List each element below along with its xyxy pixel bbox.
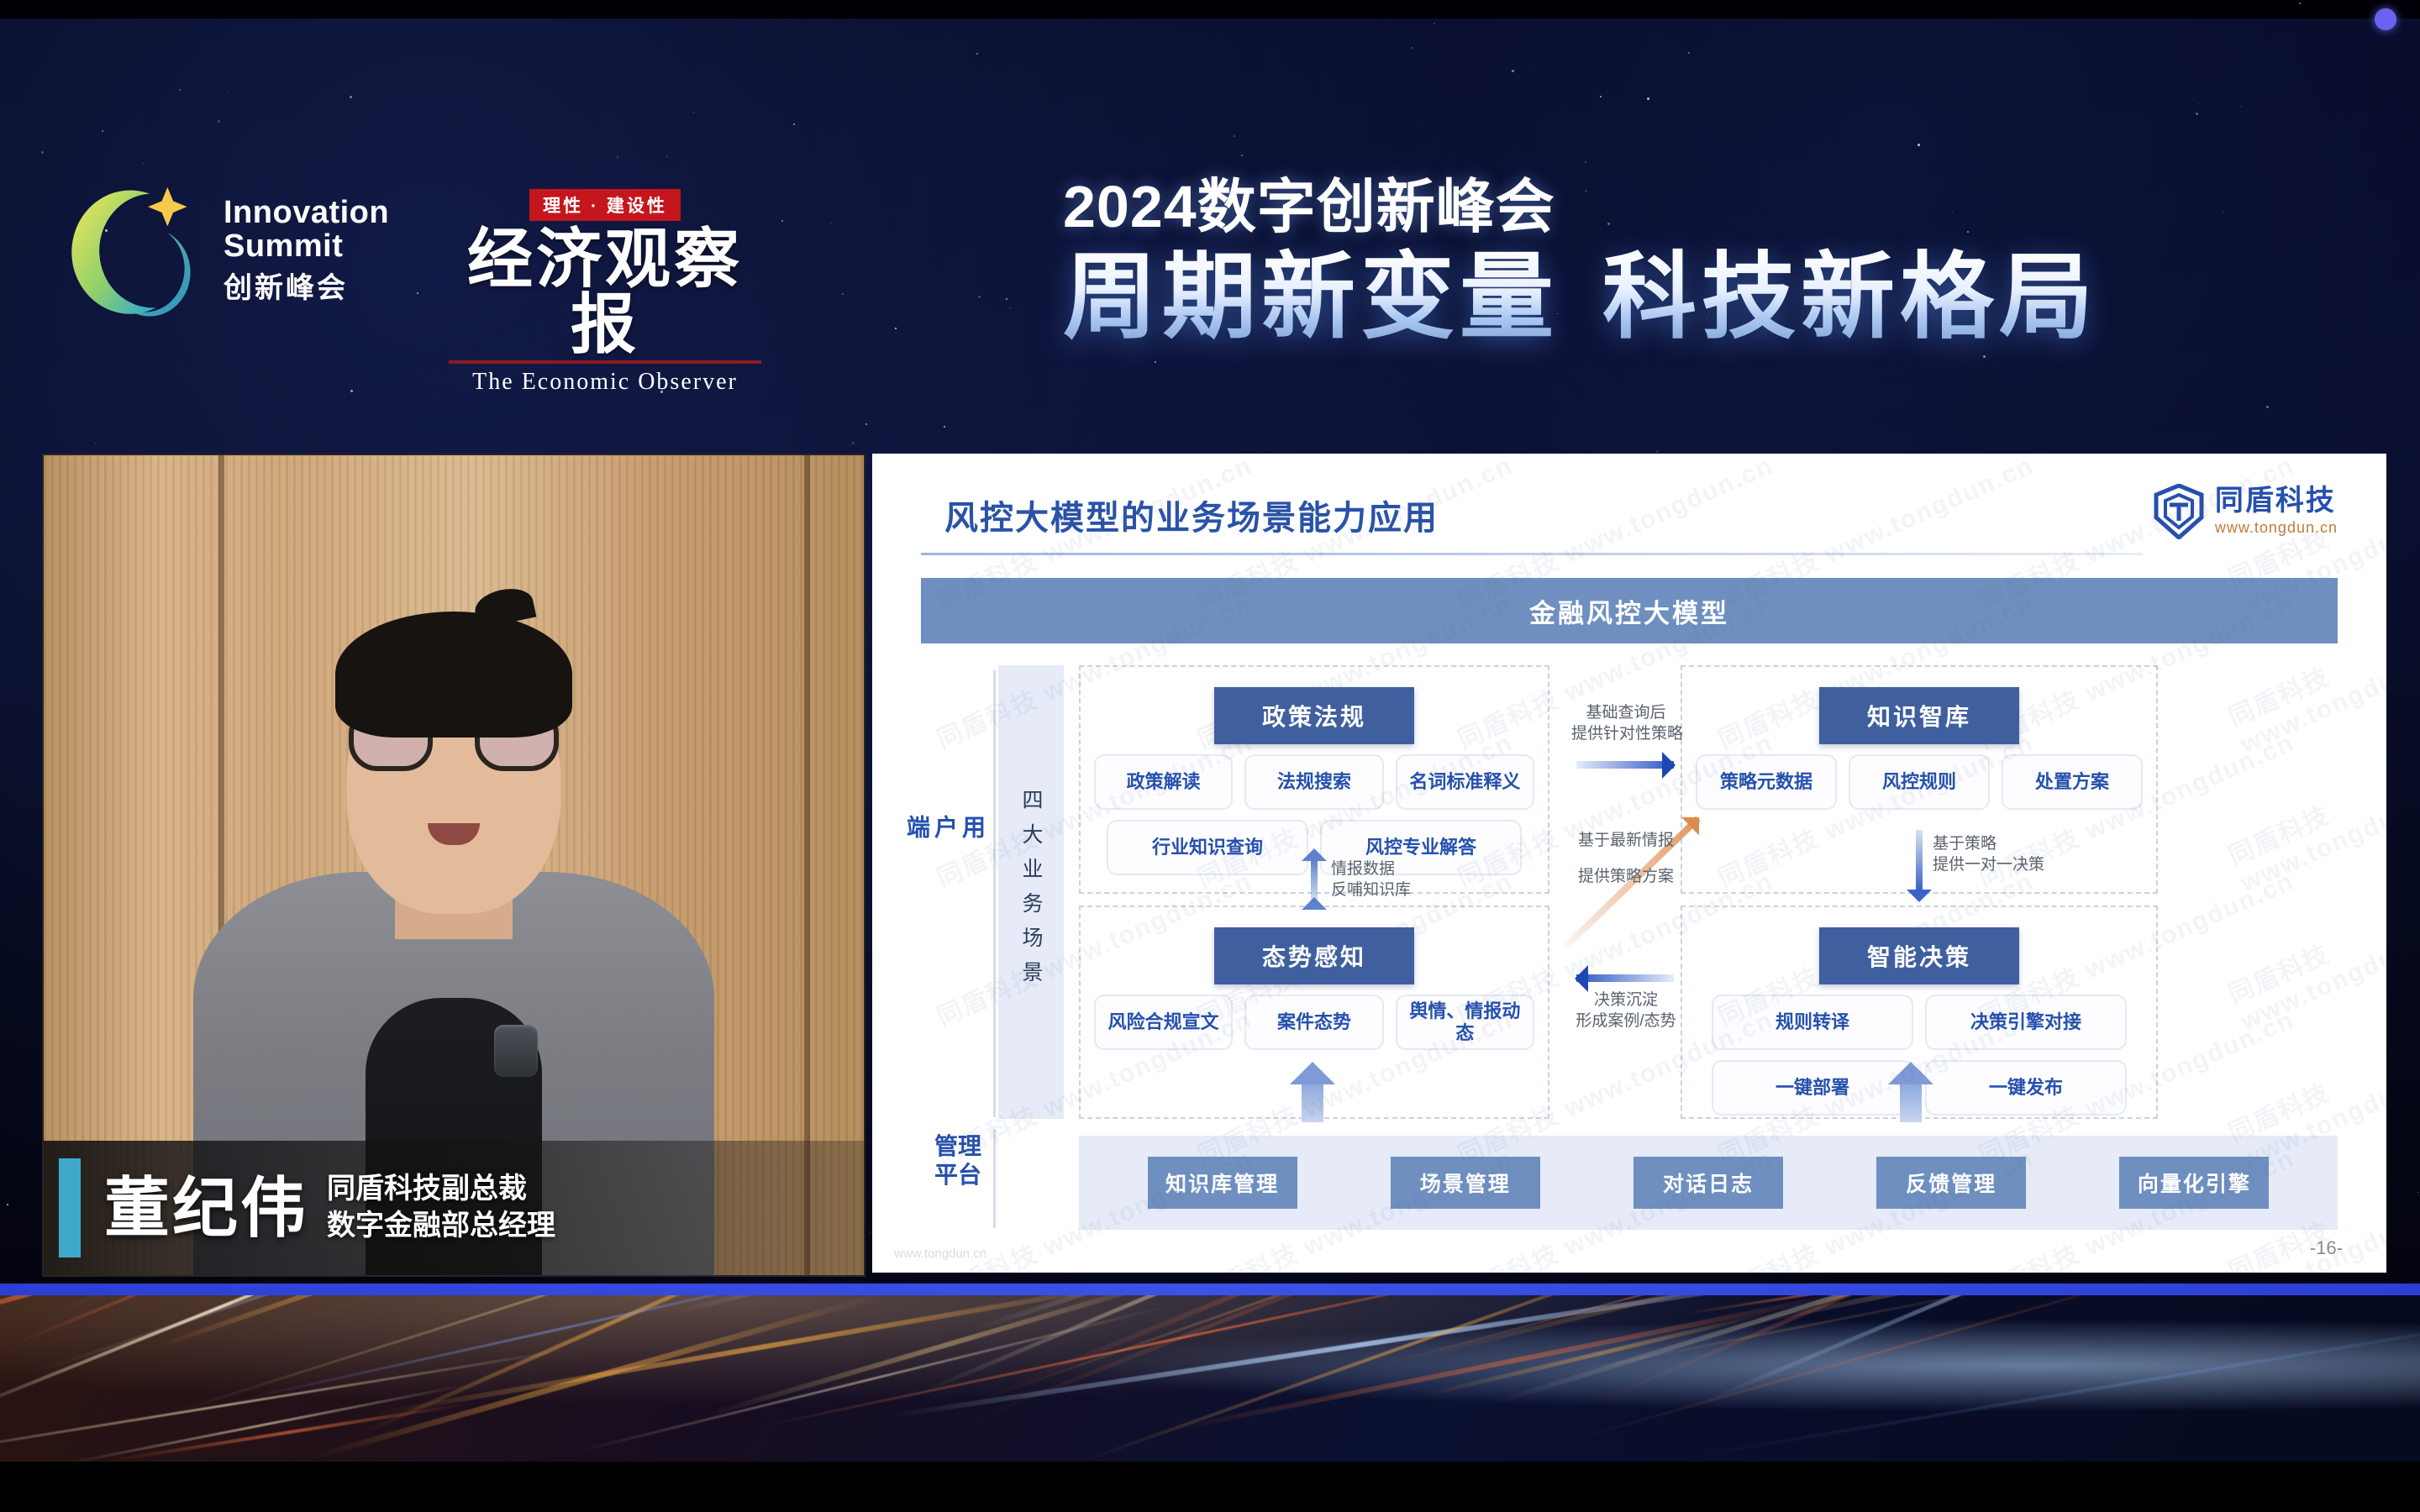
chip-policy-2[interactable]: 法规搜索 [1244, 754, 1383, 810]
summit-title-line2: 周期新变量科技新格局 [1063, 248, 2374, 348]
connector-1-line1: 基于最新情报 [1571, 830, 1681, 851]
tongdun-logo-text: 同盾科技 www.tongdun.cn [2215, 486, 2338, 537]
screen-root: Innovation Summit 创新峰会 理性 · 建设性 经济观察报 Th… [0, 0, 2420, 1512]
bottom-light-streaks [0, 1284, 2420, 1462]
chip-decision-1[interactable]: 规则转译 [1712, 995, 1913, 1050]
speaker-video-panel[interactable]: 董纪伟 同盾科技副总裁 数字金融部总经理 [42, 454, 865, 1277]
chip-situation-3[interactable]: 舆情、情报动态 [1396, 995, 1534, 1050]
cursor-dot [2375, 8, 2396, 30]
chip-knowledge-1[interactable]: 策略元数据 [1696, 754, 1837, 810]
chip-knowledge-3[interactable]: 处置方案 [2002, 754, 2143, 810]
innovation-summit-text: Innovation Summit 创新峰会 [224, 197, 389, 303]
model-banner: 金融风控大模型 [921, 578, 2338, 643]
eo-tagline: 理性 · 建设性 [529, 189, 681, 221]
lane-divider-bottom [993, 1129, 996, 1228]
scenarios-label: 四大业务场景 [1016, 789, 1046, 995]
connector-0-line2: 提供针对性策略 [1571, 723, 1681, 744]
admin-item-3[interactable]: 对话日志 [1633, 1157, 1783, 1209]
arrow-decision-to-situation [1576, 974, 1674, 982]
event-header: Innovation Summit 创新峰会 理性 · 建设性 经济观察报 Th… [0, 34, 2420, 286]
tongdun-name: 同盾科技 [2215, 486, 2338, 515]
connector-label-decision-to-situation: 决策沉淀 形成案例/态势 [1571, 990, 1681, 1032]
quadrant-decision-title: 智能决策 [1819, 927, 2019, 984]
speaker-name: 董纪伟 [104, 1175, 308, 1241]
scenarios-column: 四大业务场景 [998, 665, 1064, 1119]
lane-label-user: 用户端 [924, 815, 986, 843]
chip-decision-4[interactable]: 一键发布 [1925, 1060, 2127, 1116]
connector-1-line2: 提供策略方案 [1571, 866, 1681, 887]
connector-2-line2: 提供一对一决策 [1933, 854, 2084, 875]
lane-admin-line1: 管理 [923, 1132, 993, 1161]
slide-footer-url: www.tongdun.cn [894, 1247, 986, 1261]
chip-decision-2[interactable]: 决策引擎对接 [1925, 995, 2127, 1050]
admin-item-1[interactable]: 知识库管理 [1148, 1157, 1297, 1209]
chip-policy-3[interactable]: 名词标准释义 [1396, 754, 1534, 810]
chip-policy-4[interactable]: 行业知识查询 [1107, 820, 1308, 875]
chip-knowledge-2[interactable]: 风控规则 [1849, 754, 1990, 810]
connector-0-line1: 基础查询后 [1571, 702, 1681, 723]
summit-main-title: 2024数字创新峰会 周期新变量科技新格局 [1063, 160, 2374, 348]
admin-item-5[interactable]: 向量化引擎 [2119, 1157, 2269, 1209]
lapel-microphone-icon [494, 1025, 538, 1077]
speaker-role-line1: 同盾科技副总裁 [327, 1171, 555, 1208]
innovation-summit-logo: Innovation Summit 创新峰会 [71, 181, 389, 319]
summit-title-line1: 2024数字创新峰会 [1063, 160, 2374, 244]
summit-title-part-a: 周期新变量 [1063, 244, 1559, 349]
chip-situation-1[interactable]: 风险合规宣文 [1094, 995, 1233, 1050]
quadrant-grid: 政策法规 政策解读 法规搜索 名词标准释义 行业知识查询 风控专业解答 [1079, 665, 2338, 1119]
chip-situation-2[interactable]: 案件态势 [1244, 995, 1383, 1050]
admin-platform-band: 知识库管理 场景管理 对话日志 反馈管理 向量化引擎 [1079, 1136, 2338, 1230]
arrow-situation-to-policy [1311, 860, 1318, 902]
eo-chinese-name: 经济观察报 [437, 226, 773, 357]
connector-label-policy-to-knowledge: 基础查询后 提供针对性策略 [1571, 702, 1681, 745]
summit-en-line2: Summit [224, 230, 389, 264]
connector-label-knowledge-to-decision: 基于策略 提供一对一决策 [1933, 833, 2084, 876]
quadrant-situation-title: 态势感知 [1214, 927, 1414, 984]
chip-policy-1[interactable]: 政策解读 [1094, 754, 1233, 810]
connector-2-line1: 基于策略 [1933, 833, 2084, 854]
economic-observer-logo: 理性 · 建设性 经济观察报 The Economic Observer [437, 189, 773, 396]
tongdun-logo: 同盾科技 www.tongdun.cn [2153, 484, 2338, 539]
name-accent-bar [59, 1158, 81, 1257]
shield-icon [2153, 484, 2205, 539]
connector-3-line2: 形成案例/态势 [1571, 1011, 1681, 1032]
connector-4-line1: 情报数据 [1331, 858, 1449, 879]
slide-title: 风控大模型的业务场景能力应用 [944, 491, 1439, 539]
eo-english-name: The Economic Observer [437, 369, 773, 396]
lane-label-admin: 管理 平台 [923, 1132, 993, 1189]
tongdun-url: www.tongdun.cn [2215, 519, 2338, 537]
speaker-role-line2: 数字金融部总经理 [327, 1208, 555, 1245]
connector-label-situation-to-policy: 情报数据 反哺知识库 [1331, 858, 1449, 901]
speaker-lower-third: 董纪伟 同盾科技副总裁 数字金融部总经理 [44, 1141, 864, 1275]
lane-admin-line2: 平台 [923, 1161, 993, 1189]
connector-3-line1: 决策沉淀 [1571, 990, 1681, 1011]
quadrant-knowledge-title: 知识智库 [1819, 687, 2019, 744]
admin-item-2[interactable]: 场景管理 [1391, 1157, 1540, 1209]
presentation-slide[interactable]: 风控大模型的业务场景能力应用 同盾科技 www.tongdun.cn [872, 454, 2386, 1273]
crescent-moon-icon [71, 181, 202, 319]
blue-accent-band [0, 1284, 2420, 1295]
connector-4-line2: 反哺知识库 [1331, 879, 1449, 900]
slide-page-number: -16- [2310, 1237, 2343, 1259]
admin-item-4[interactable]: 反馈管理 [1876, 1157, 2026, 1209]
connector-label-situation-to-knowledge: 基于最新情报 提供策略方案 [1571, 830, 1681, 888]
slide-header: 风控大模型的业务场景能力应用 同盾科技 www.tongdun.cn [921, 489, 2338, 566]
lane-divider-top [993, 670, 996, 1117]
speaker-hair [335, 612, 572, 738]
bottom-letterbox [0, 1462, 2420, 1512]
summit-title-part-b: 科技新格局 [1602, 244, 2098, 349]
arrow-knowledge-to-decision [1916, 830, 1923, 890]
summit-cn: 创新峰会 [224, 274, 389, 304]
speaker-role: 同盾科技副总裁 数字金融部总经理 [327, 1171, 555, 1244]
title-divider [921, 553, 2143, 555]
arrow-policy-to-knowledge [1576, 761, 1674, 769]
chip-decision-3[interactable]: 一键部署 [1712, 1060, 1913, 1116]
summit-en-line1: Innovation [224, 197, 389, 230]
quadrant-policy-title: 政策法规 [1214, 687, 1414, 744]
